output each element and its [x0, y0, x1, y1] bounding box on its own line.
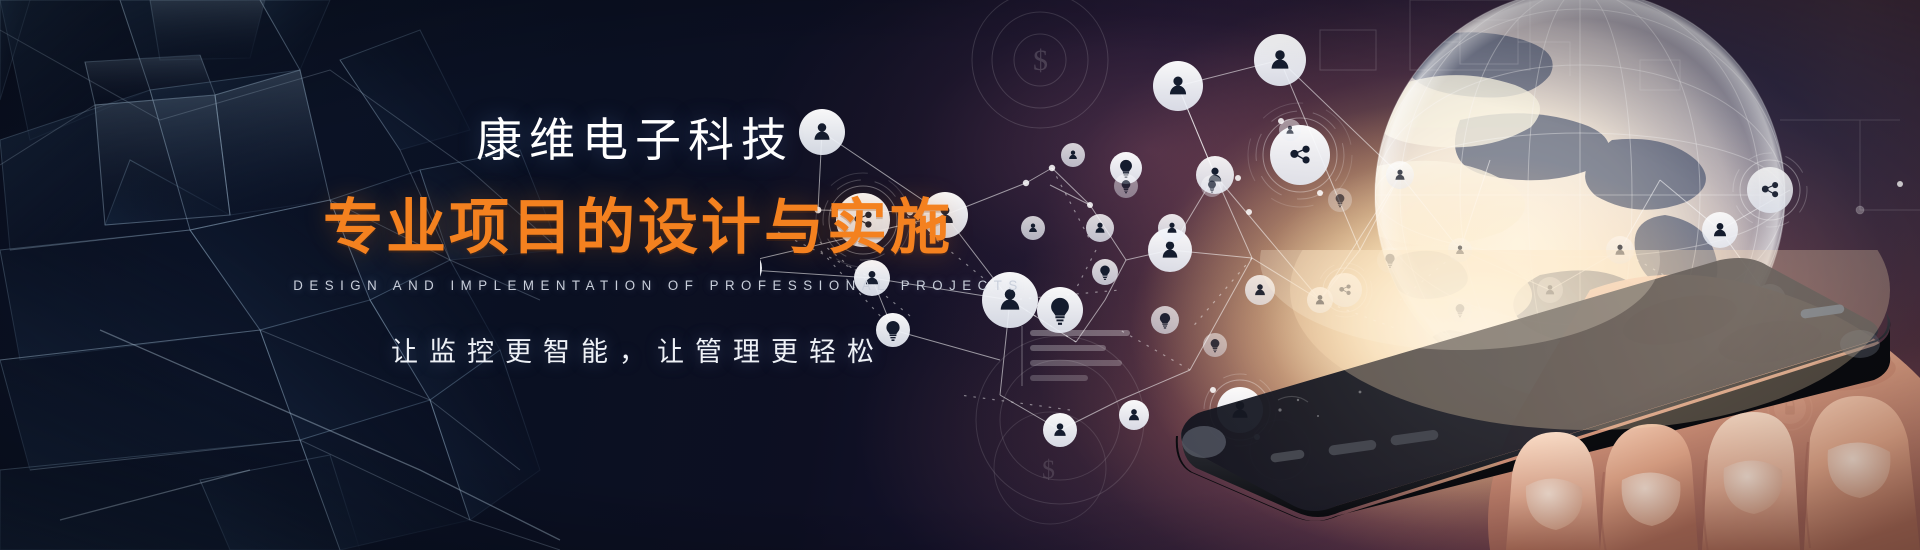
headline: 专业项目的设计与实施	[288, 196, 988, 261]
company-title: 康维电子科技	[290, 112, 980, 170]
vignette-overlay	[0, 0, 1920, 550]
hero-banner: $ $	[0, 0, 1920, 550]
tagline: 让监控更智能，让管理更轻松	[290, 330, 986, 369]
headline-subtitle: DESIGN AND IMPLEMENTATION OF PROFESSIONA…	[293, 278, 983, 293]
